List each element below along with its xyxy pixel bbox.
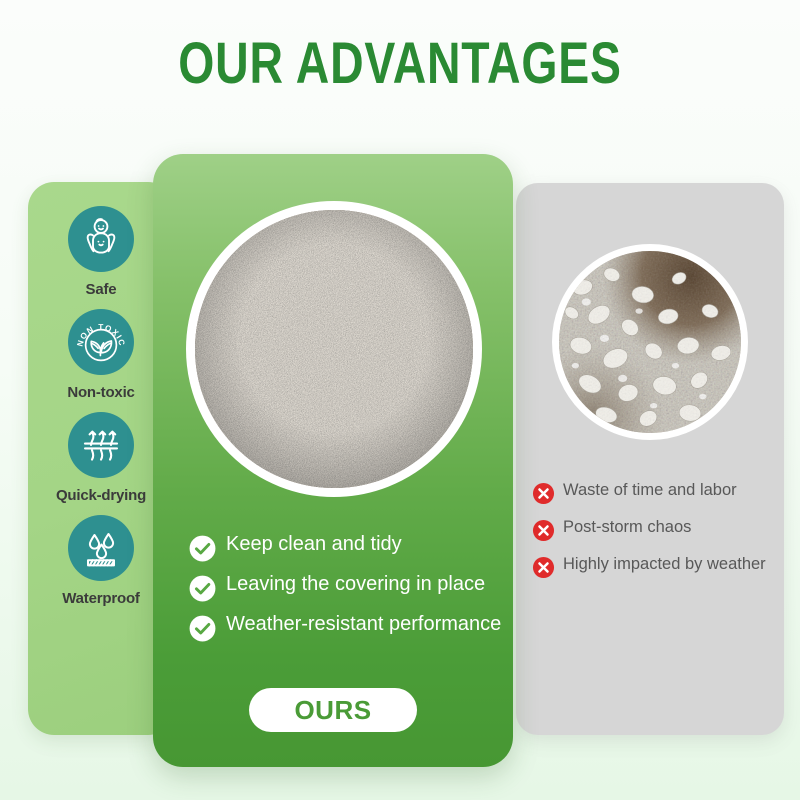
list-item: Weather-resistant performance	[189, 613, 509, 642]
list-item: Leaving the covering in place	[189, 573, 509, 602]
pro-text: Keep clean and tidy	[226, 533, 402, 557]
list-item: Post-storm chaos	[532, 517, 782, 542]
list-item: Highly impacted by weather	[532, 554, 782, 579]
ours-photo	[186, 201, 482, 497]
page-title: OUR ADVANTAGES	[80, 34, 720, 95]
close-icon	[532, 482, 555, 505]
check-circle-icon	[189, 535, 216, 562]
close-icon	[532, 556, 555, 579]
pro-text: Leaving the covering in place	[226, 573, 485, 597]
con-text: Highly impacted by weather	[563, 554, 766, 576]
ours-card: Keep clean and tidy Leaving the covering…	[153, 154, 513, 767]
ours-pros-list: Keep clean and tidy Leaving the covering…	[189, 533, 509, 653]
others-photo	[552, 244, 748, 440]
others-gravel-texture	[559, 251, 741, 433]
baby-in-hands-icon	[68, 206, 134, 272]
waterproof-droplets-icon	[68, 515, 134, 581]
con-text: Post-storm chaos	[563, 517, 691, 539]
others-cons-list: Waste of time and labor Post-storm chaos…	[532, 480, 782, 591]
list-item: Keep clean and tidy	[189, 533, 509, 562]
check-circle-icon	[189, 615, 216, 642]
check-circle-icon	[189, 575, 216, 602]
ours-gravel-texture	[195, 210, 473, 488]
pro-text: Weather-resistant performance	[226, 613, 501, 637]
non-toxic-leaf-icon: NON TOXIC	[68, 309, 134, 375]
quick-drying-arrows-icon	[68, 412, 134, 478]
close-icon	[532, 519, 555, 542]
others-card: Waste of time and labor Post-storm chaos…	[516, 183, 784, 735]
svg-text:NON TOXIC: NON TOXIC	[75, 323, 126, 348]
ours-badge: OURS	[249, 688, 417, 732]
con-text: Waste of time and labor	[563, 480, 737, 502]
list-item: Waste of time and labor	[532, 480, 782, 505]
